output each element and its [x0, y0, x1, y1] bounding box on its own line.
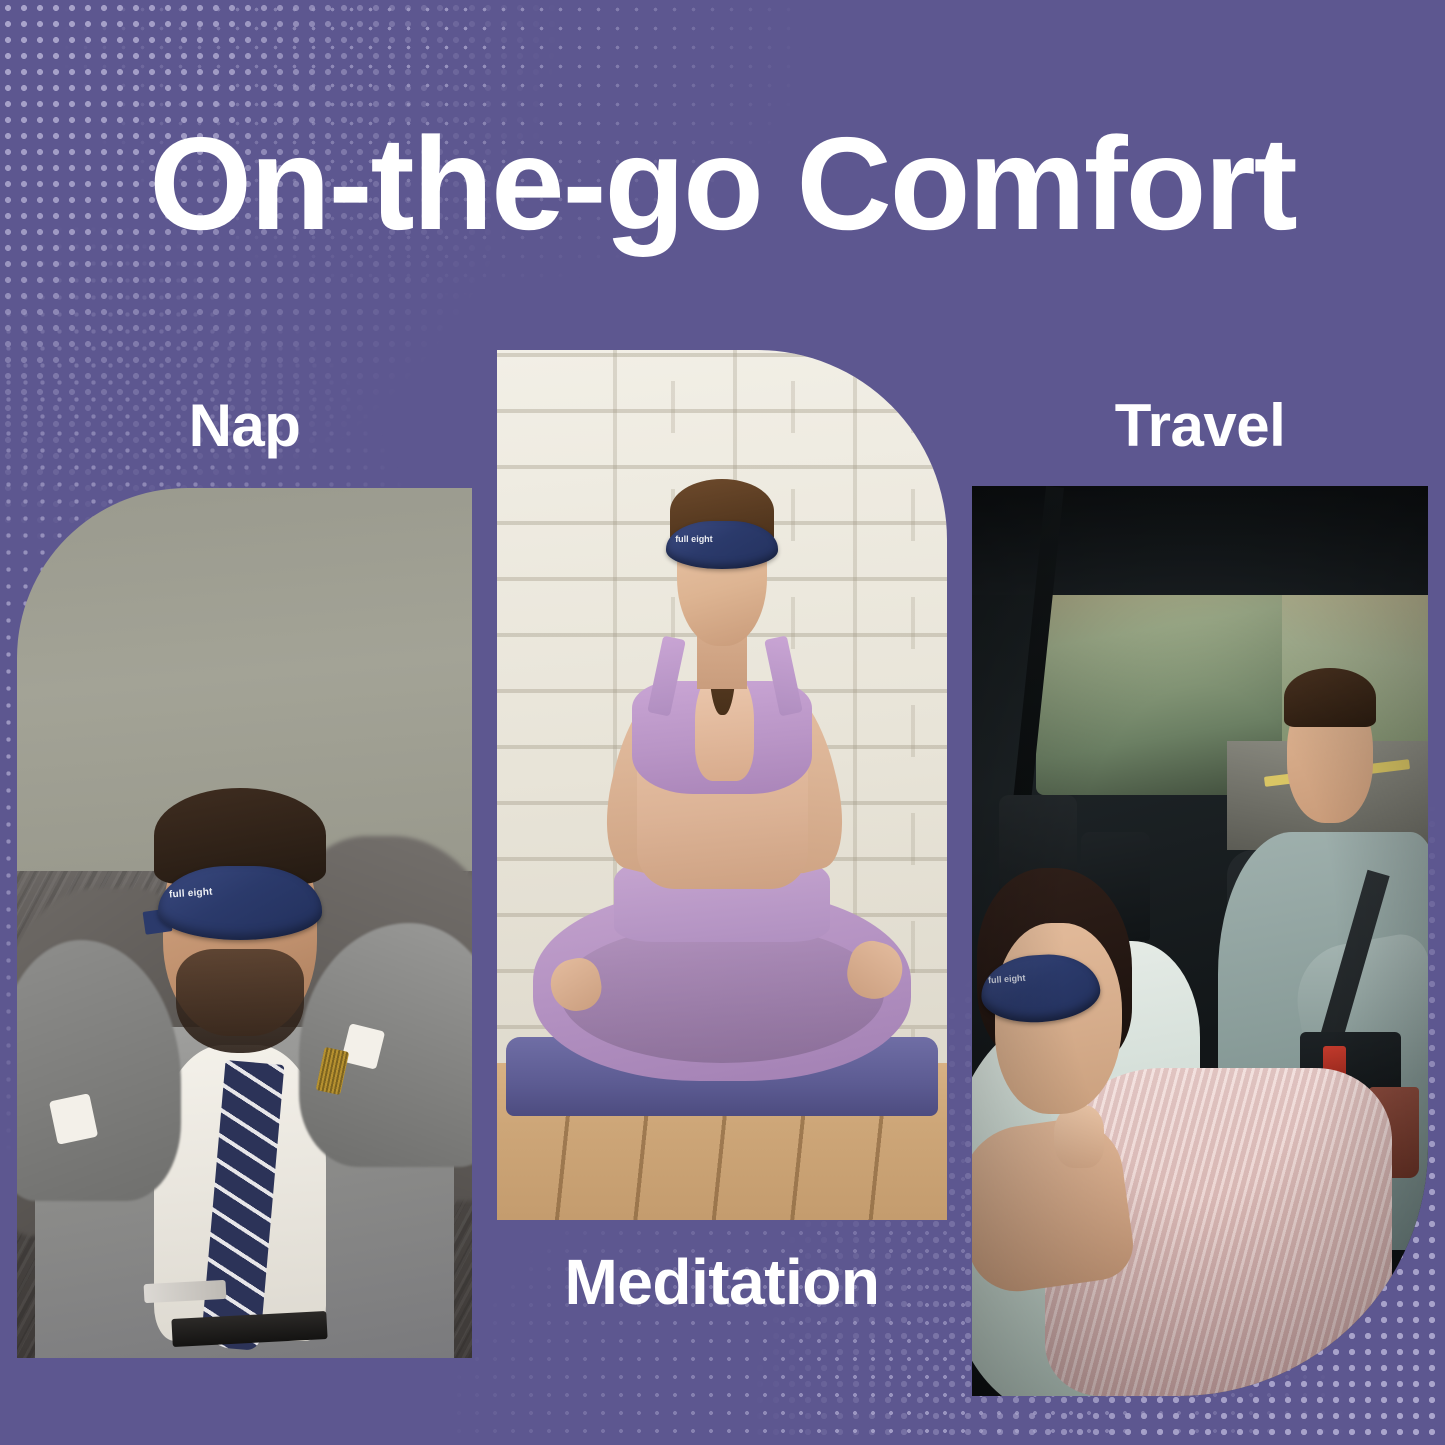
caption-nap: Nap: [17, 396, 472, 456]
caption-travel: Travel: [972, 396, 1428, 456]
travel-photo: full eight: [972, 486, 1428, 1396]
nap-beard: [176, 949, 303, 1053]
meditation-leg-fold: [560, 924, 884, 1063]
photo-panel-travel: full eight: [972, 486, 1428, 1396]
photo-vignette: [972, 486, 1428, 1396]
photo-panel-meditation: full eight: [497, 350, 947, 1220]
nap-photo: full eight: [17, 488, 472, 1358]
sleep-mask-meditation: [666, 521, 779, 570]
meditation-photo: full eight: [497, 350, 947, 1220]
sleep-mask-nap: [158, 866, 322, 941]
page-title: On-the-go Comfort: [0, 118, 1445, 250]
caption-meditation: Meditation: [497, 1250, 947, 1314]
sleep-mask-logo-meditation: full eight: [675, 534, 713, 544]
photo-panel-nap: full eight: [17, 488, 472, 1358]
